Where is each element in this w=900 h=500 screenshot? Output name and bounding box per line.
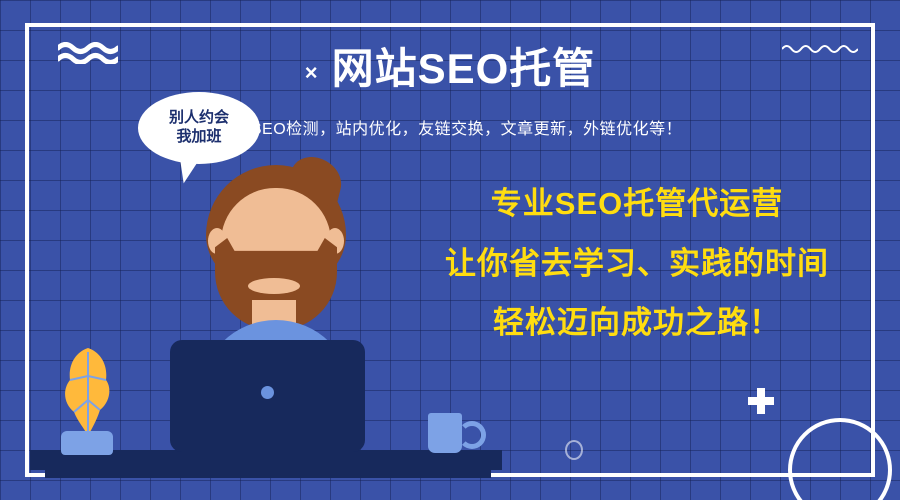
person-mouth <box>248 278 300 294</box>
plant-leaf-icon <box>62 346 114 438</box>
speech-bubble-line-2: 我加班 <box>176 128 221 147</box>
title-row: × 网站SEO托管 <box>0 46 900 92</box>
slogan-list: 专业SEO托管代运营 让你省去学习、实践的时间 轻松迈向成功之路！ <box>422 186 852 341</box>
seo-banner: × 网站SEO托管 含：SEO检测，站内优化，友链交换，文章更新，外链优化等！ … <box>0 0 900 500</box>
desk-shadow <box>45 470 491 478</box>
x-mark-icon: × <box>305 62 318 84</box>
slogan-line-2: 让你省去学习、实践的时间 <box>445 246 829 282</box>
slogan-line-3: 轻松迈向成功之路！ <box>493 305 781 341</box>
page-title: 网站SEO托管 <box>332 46 596 92</box>
plant-pot <box>61 431 113 455</box>
subtitle: 含：SEO检测，站内优化，友链交换，文章更新，外链优化等！ <box>0 115 900 139</box>
plus-icon <box>748 388 774 414</box>
coffee-mug-handle <box>458 421 486 449</box>
laptop-logo-dot <box>261 386 274 399</box>
speech-bubble-line-1: 别人约会 <box>169 109 229 128</box>
speech-bubble: 别人约会 我加班 <box>138 92 260 164</box>
coffee-mug-icon <box>428 413 462 453</box>
circle-outline-icon <box>565 440 583 460</box>
slogan-line-1: 专业SEO托管代运营 <box>491 186 783 222</box>
